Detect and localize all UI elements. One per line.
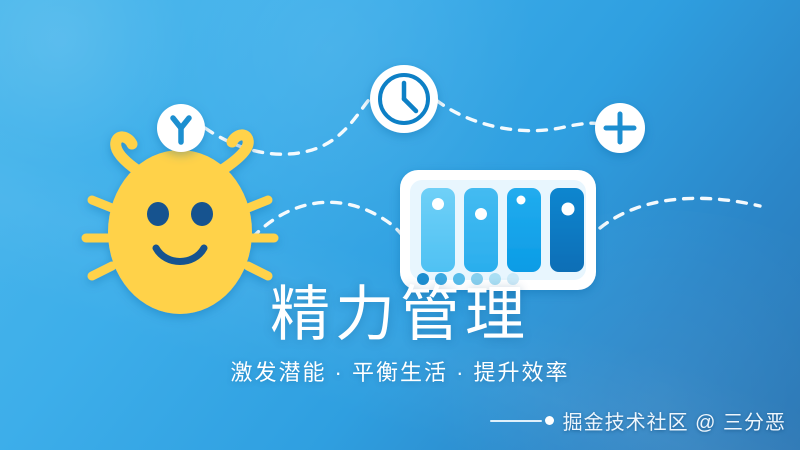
mascot-eye-right [191, 202, 213, 226]
connector-device-to-right [600, 198, 760, 228]
watermark-text: 掘金技术社区 @ 三分恶 [563, 406, 786, 435]
poster-canvas: 精力管理 激发潜能 · 平衡生活 · 提升效率 掘金技术社区 @ 三分恶 [0, 0, 800, 450]
mascot-antenna-left [116, 137, 140, 172]
connector-mascot-to-device [252, 202, 402, 238]
battery-bar-4-dot [562, 203, 575, 216]
battery-bar-2 [464, 188, 498, 272]
watermark-dot [545, 416, 554, 425]
watermark: 掘金技术社区 @ 三分恶 [490, 406, 786, 435]
battery-bar-3-dot [517, 196, 526, 205]
page-subtitle: 激发潜能 · 平衡生活 · 提升效率 [0, 355, 800, 387]
page-title: 精力管理 [0, 284, 800, 345]
title-block: 精力管理 激发潜能 · 平衡生活 · 提升效率 [0, 284, 800, 387]
watermark-rule [490, 420, 542, 422]
connector-clock-to-plus [436, 100, 600, 131]
mascot-eye-left [147, 202, 169, 226]
battery-bar-1-dot [432, 198, 444, 210]
battery-panel [400, 170, 596, 290]
battery-bar-2-dot [475, 208, 487, 220]
tuning-fork-icon[interactable] [157, 104, 205, 152]
plus-icon[interactable] [595, 103, 645, 153]
clock-icon[interactable] [370, 65, 438, 133]
battery-bar-4 [550, 188, 584, 272]
